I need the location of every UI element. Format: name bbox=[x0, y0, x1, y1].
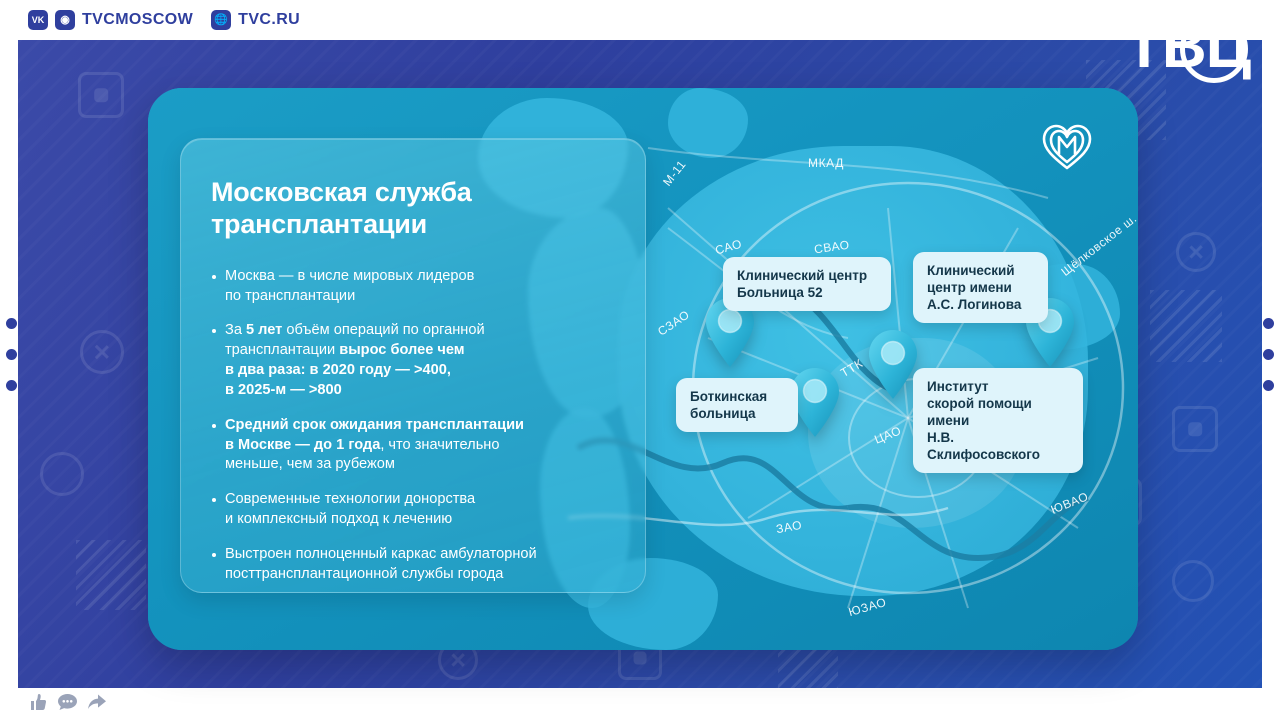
callout-botkin[interactable]: Боткинская больница bbox=[676, 378, 798, 432]
edge-dot bbox=[1263, 380, 1274, 391]
comment-icon[interactable] bbox=[57, 692, 78, 712]
edge-dot bbox=[1263, 318, 1274, 329]
fact-item: Выстроен полноценный каркас амбулаторной… bbox=[211, 545, 611, 585]
fact-item: За 5 лет объём операций по органной тран… bbox=[211, 321, 611, 400]
left-edge-dots bbox=[6, 318, 17, 391]
fact-item: Средний срок ожидания трансплантации в М… bbox=[211, 416, 611, 476]
pattern-stripes bbox=[76, 540, 146, 610]
pattern-circle bbox=[1172, 560, 1214, 602]
social-account-label: TVC.RU bbox=[238, 11, 300, 29]
social-account-vk[interactable]: VK ◉ TVCMOSCOW bbox=[28, 10, 193, 30]
pattern-camera-icon bbox=[1172, 406, 1218, 452]
pattern-x-icon bbox=[80, 330, 124, 374]
content-card: М-11МКАДСАОСВАОЩёлковское ш.СЗАОТТКЦАОЗА… bbox=[148, 88, 1138, 650]
right-edge-dots bbox=[1263, 318, 1274, 391]
slide-root: VK ◉ TVCMOSCOW 🌐 TVC.RU ТВЦ bbox=[0, 0, 1280, 720]
pattern-x-icon bbox=[1176, 232, 1216, 272]
globe-icon: 🌐 bbox=[211, 10, 231, 30]
play-circle-icon: ◉ bbox=[55, 10, 75, 30]
callout-sklifosovsky[interactable]: Институт скорой помощи имени Н.В. Склифо… bbox=[913, 368, 1083, 473]
edge-dot bbox=[6, 380, 17, 391]
fact-list: Москва — в числе мировых лидеров по тран… bbox=[211, 267, 611, 585]
callout-loginov[interactable]: Клинический центр имени А.С. Логинова bbox=[913, 252, 1048, 323]
page-title: Московская служба трансплантации bbox=[211, 177, 611, 241]
fact-item: Современные технологии донорства и компл… bbox=[211, 490, 611, 530]
pin-sklifosovsky[interactable] bbox=[866, 328, 920, 400]
info-panel: Московская служба трансплантации Москва … bbox=[180, 138, 646, 593]
pattern-stripes bbox=[1150, 290, 1222, 362]
tvc-channel-logo: ТВЦ bbox=[1125, 16, 1250, 78]
edge-dot bbox=[1263, 349, 1274, 360]
thumbs-up-icon[interactable] bbox=[28, 692, 48, 712]
pattern-camera-icon bbox=[78, 72, 124, 118]
moscow-heart-m-logo bbox=[1040, 120, 1094, 172]
edge-dot bbox=[6, 349, 17, 360]
fact-item: Москва — в числе мировых лидеров по тран… bbox=[211, 267, 611, 307]
map-district-label: МКАД bbox=[808, 156, 844, 170]
social-account-site[interactable]: 🌐 TVC.RU bbox=[211, 10, 300, 30]
vk-icon: VK bbox=[28, 10, 48, 30]
pattern-circle bbox=[40, 452, 84, 496]
social-account-label: TVCMOSCOW bbox=[82, 11, 193, 29]
share-icon[interactable] bbox=[87, 692, 107, 712]
edge-dot bbox=[6, 318, 17, 329]
social-accounts-bar: VK ◉ TVCMOSCOW 🌐 TVC.RU bbox=[0, 0, 1040, 40]
reaction-bar bbox=[28, 692, 107, 712]
callout-hospital-52[interactable]: Клинический центр Больница 52 bbox=[723, 257, 891, 311]
tvc-logo-ring bbox=[1180, 15, 1248, 83]
